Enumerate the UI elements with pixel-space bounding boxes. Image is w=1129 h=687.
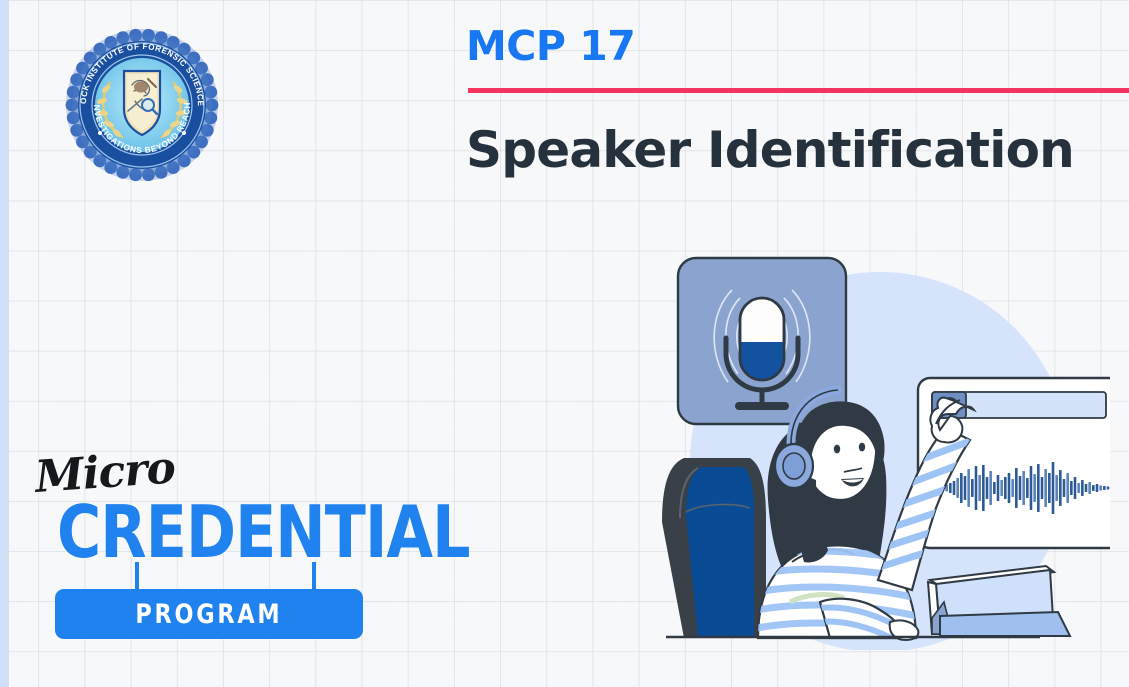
institute-logo: SHERLOCK INSTITUTE OF FORENSIC SCIENCE I… bbox=[64, 27, 220, 183]
waveform-bar bbox=[975, 466, 978, 510]
waveform-bar bbox=[1044, 469, 1047, 507]
waveform-bar bbox=[1107, 487, 1110, 490]
waveform-bar bbox=[989, 471, 992, 505]
waveform-bar bbox=[1008, 473, 1011, 503]
waveform-bar bbox=[956, 478, 959, 498]
waveform-bar bbox=[1099, 486, 1102, 491]
waveform-bar bbox=[1063, 479, 1066, 497]
waveform-bar bbox=[993, 482, 996, 494]
hero-illustration bbox=[640, 250, 1110, 650]
waveform-bar bbox=[1030, 466, 1033, 510]
waveform-bar bbox=[949, 483, 952, 493]
waveform-bar bbox=[1070, 481, 1073, 495]
waveform-bar bbox=[1096, 484, 1099, 492]
waveform-bar bbox=[1004, 477, 1007, 499]
page-title: Speaker Identification bbox=[466, 122, 1074, 178]
waveform-bar bbox=[1092, 485, 1095, 491]
badge-word-program: PROGRAM bbox=[136, 599, 283, 630]
waveform-bar bbox=[1055, 475, 1058, 501]
waveform-bar bbox=[1022, 471, 1025, 505]
waveform-bar bbox=[1011, 479, 1014, 497]
waveform-bar bbox=[1103, 486, 1106, 490]
waveform-bar bbox=[1019, 476, 1022, 500]
waveform-bar bbox=[1081, 480, 1084, 496]
waveform-bar bbox=[960, 473, 963, 503]
waveform-bar bbox=[1052, 462, 1055, 514]
waveform-bar bbox=[953, 481, 956, 495]
waveform-bar bbox=[982, 465, 985, 511]
office-chair bbox=[662, 458, 766, 638]
accent-rule bbox=[468, 88, 1129, 93]
micro-credential-badge: Micro CREDENTIAL PROGRAM bbox=[35, 452, 365, 642]
waveform-bar bbox=[1066, 473, 1069, 503]
waveform-bar bbox=[1085, 484, 1088, 492]
waveform-bar bbox=[971, 479, 974, 497]
badge-word-credential: CREDENTIAL bbox=[57, 496, 470, 568]
waveform-bar bbox=[1026, 478, 1029, 498]
waveform-bar bbox=[967, 469, 970, 507]
header-block: MCP 17 bbox=[466, 26, 1129, 67]
slide-canvas: SHERLOCK INSTITUTE OF FORENSIC SCIENCE I… bbox=[0, 0, 1129, 687]
waveform-bar bbox=[1033, 474, 1036, 502]
waveform-bar bbox=[1088, 482, 1091, 494]
waveform-bar bbox=[978, 475, 981, 501]
course-code: MCP 17 bbox=[466, 26, 1129, 67]
waveform-bar bbox=[1000, 480, 1003, 496]
microphone-card bbox=[678, 258, 846, 424]
left-edge-strip bbox=[0, 0, 9, 687]
waveform-bar bbox=[1059, 470, 1062, 506]
waveform-bar bbox=[1077, 483, 1080, 493]
waveform-bar bbox=[1041, 477, 1044, 499]
waveform-bar bbox=[997, 475, 1000, 501]
waveform-bar bbox=[964, 476, 967, 500]
waveform-bar bbox=[1074, 477, 1077, 499]
waveform-bar bbox=[1048, 473, 1051, 503]
badge-program-plate: PROGRAM bbox=[55, 589, 363, 639]
waveform-bar bbox=[1015, 468, 1018, 508]
waveform-bar bbox=[986, 477, 989, 499]
waveform-bar bbox=[1037, 464, 1040, 512]
